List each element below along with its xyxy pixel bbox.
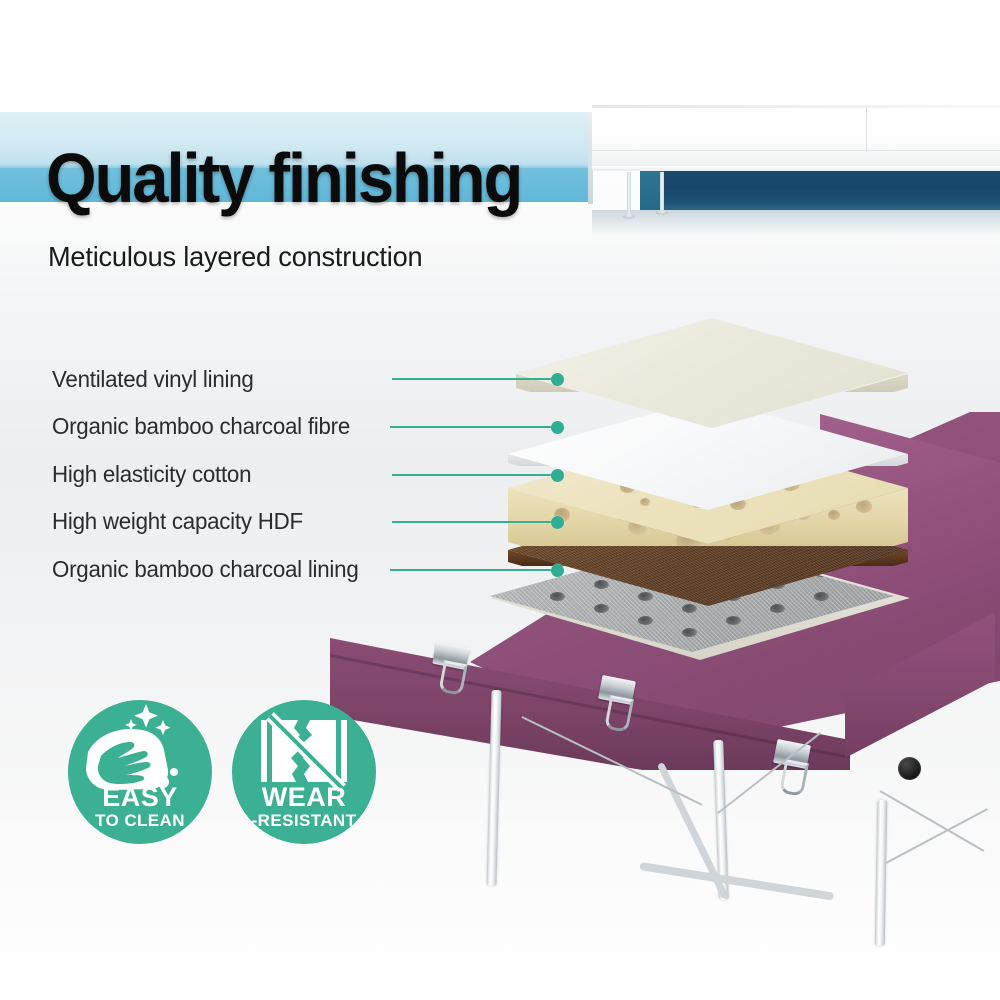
callout-label: High elasticity cotton	[52, 461, 251, 488]
cabinet-leg-left	[627, 172, 631, 216]
callout-leader-line-2	[390, 426, 557, 428]
background-upper-white	[0, 0, 592, 113]
cabinet-door-divider	[866, 108, 867, 152]
callout-label: High weight capacity HDF	[52, 508, 303, 535]
callout-leader-line-4	[392, 521, 557, 523]
cabinet-recess	[664, 170, 1000, 210]
callout-dot-5	[551, 564, 564, 577]
badge-easy-to-clean: EASY TO CLEAN	[68, 700, 212, 844]
product-feature-image: Ventilated vinyl lining Organic bamboo c…	[0, 0, 1000, 1000]
cabinet-body	[592, 108, 1000, 170]
cabinet-foot-right	[656, 210, 668, 215]
cabinet-foot-left	[623, 214, 635, 219]
callout-dot-4	[551, 516, 564, 529]
table-corner-knob	[898, 757, 921, 780]
badge-title: WEAR	[232, 782, 376, 813]
callout-label: Organic bamboo charcoal lining	[52, 556, 358, 583]
cabinet-shelf-edge	[592, 166, 1000, 171]
callout-dot-1	[551, 373, 564, 386]
callout-label: Organic bamboo charcoal fibre	[52, 413, 350, 440]
callout-leader-line-5	[390, 569, 557, 571]
layer-vinyl-lining	[516, 318, 908, 454]
callout-dot-2	[551, 421, 564, 434]
callout-charcoal-fibre: Organic bamboo charcoal fibre	[52, 413, 359, 439]
badge-subtitle: -RESISTANT	[232, 811, 376, 831]
page-subtitle: Meticulous layered construction	[48, 243, 422, 271]
callout-leader-line-3	[392, 474, 557, 476]
badge-subtitle: TO CLEAN	[68, 811, 212, 831]
page-title: Quality finishing	[46, 143, 521, 213]
callout-hdf-board: High weight capacity HDF	[52, 508, 311, 534]
callout-vinyl-lining: Ventilated vinyl lining	[52, 366, 260, 392]
cabinet-seam	[592, 150, 1000, 151]
badge-wear-resistant: WEAR -RESISTANT	[232, 700, 376, 844]
badge-title: EASY	[68, 782, 212, 813]
callout-label: Ventilated vinyl lining	[52, 366, 254, 393]
cabinet-leg-right	[660, 172, 664, 212]
callout-leader-line-1	[392, 378, 557, 380]
callout-dot-3	[551, 469, 564, 482]
callout-charcoal-lining: Organic bamboo charcoal lining	[52, 556, 368, 582]
callout-elastic-cotton: High elasticity cotton	[52, 461, 257, 487]
cabinet-floor-reflection	[592, 210, 1000, 236]
